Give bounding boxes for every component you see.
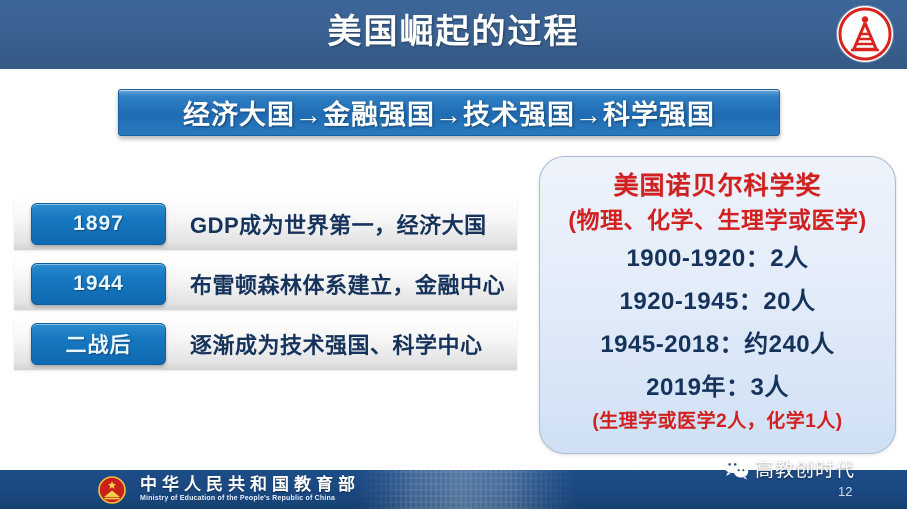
nobel-stat-line: 1900-1920：2人 xyxy=(540,237,895,280)
wechat-icon xyxy=(723,458,749,480)
page-title: 美国崛起的过程 xyxy=(0,8,907,56)
nobel-panel: 美国诺贝尔科学奖 (物理、化学、生理学或医学) 1900-1920：2人 192… xyxy=(539,156,896,454)
university-emblem-icon xyxy=(837,6,893,62)
row-description: GDP成为世界第一，经济大国 xyxy=(190,208,487,240)
ministry-wordmark: 中华人民共和国教育部 Ministry of Education of the … xyxy=(140,475,360,504)
national-emblem-icon xyxy=(97,475,127,505)
page-number: 12 xyxy=(838,484,852,499)
nobel-stat-line: 1920-1945：20人 xyxy=(540,280,895,323)
year-badge-label: 1944 xyxy=(73,272,124,296)
year-badge: 1897 xyxy=(31,203,166,245)
nobel-stat-line: 1945-2018：约240人 xyxy=(540,323,895,366)
year-badge-label: 二战后 xyxy=(66,329,132,359)
timeline-table: 1897 GDP成为世界第一，经济大国 1944 布雷顿森林体系建立，金融中心 … xyxy=(14,198,517,378)
slide: 美国崛起的过程 经济大国→金融强国→技术强国→科学强国 1897 GDP成为世界… xyxy=(0,0,907,509)
nobel-panel-title: 美国诺贝尔科学奖 xyxy=(540,169,895,203)
nobel-footnote: (生理学或医学2人，化学1人) xyxy=(540,409,895,435)
table-row: 1897 GDP成为世界第一，经济大国 xyxy=(14,198,517,250)
progression-banner: 经济大国→金融强国→技术强国→科学强国 xyxy=(118,89,780,136)
year-badge-label: 1897 xyxy=(73,212,124,236)
row-description: 布雷顿森林体系建立，金融中心 xyxy=(190,268,505,300)
year-badge: 1944 xyxy=(31,263,166,305)
year-badge: 二战后 xyxy=(31,323,166,365)
ministry-name-en: Ministry of Education of the People's Re… xyxy=(140,494,360,504)
ministry-name-cn: 中华人民共和国教育部 xyxy=(140,475,360,494)
watermark-label: 高教创时代 xyxy=(755,455,855,482)
nobel-panel-subtitle: (物理、化学、生理学或医学) xyxy=(540,203,895,237)
row-description: 逐渐成为技术强国、科学中心 xyxy=(190,328,483,360)
wechat-watermark: 高教创时代 xyxy=(723,455,855,482)
table-row: 1944 布雷顿森林体系建立，金融中心 xyxy=(14,258,517,310)
slide-header: 美国崛起的过程 xyxy=(0,0,907,69)
nobel-stat-line: 2019年：3人 xyxy=(540,366,895,409)
progression-banner-text: 经济大国→金融强国→技术强国→科学强国 xyxy=(183,93,715,132)
table-row: 二战后 逐渐成为技术强国、科学中心 xyxy=(14,318,517,370)
building-photo xyxy=(355,470,580,509)
